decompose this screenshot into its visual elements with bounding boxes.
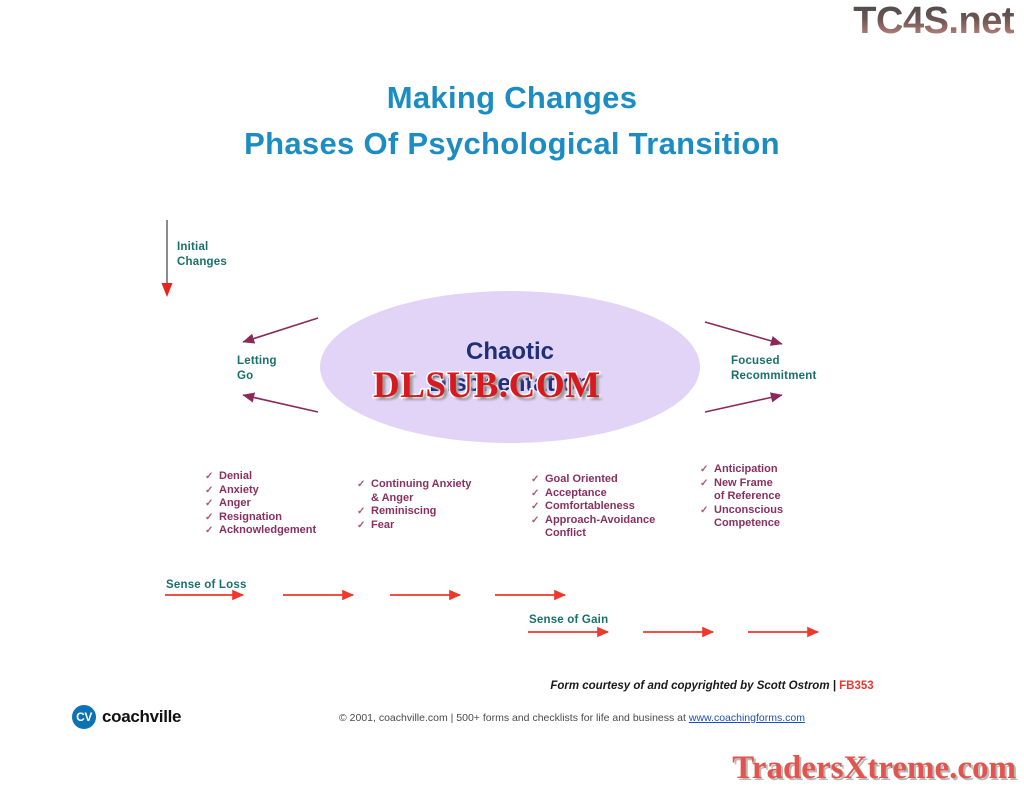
check-icon: ✓ xyxy=(357,478,371,492)
diagram-page: TC4S.net Making Changes Phases Of Psycho… xyxy=(0,0,1024,791)
bullet-item: ✓Reminiscing xyxy=(357,505,471,519)
check-icon: ✓ xyxy=(700,504,714,518)
bullet-item: ✓Goal Oriented xyxy=(531,473,655,487)
bullet-item: ✓Approach-Avoidance Conflict xyxy=(531,514,655,541)
label-sense-of-gain: Sense of Gain xyxy=(529,613,608,628)
check-icon: ✓ xyxy=(357,505,371,519)
bullet-label: Comfortableness xyxy=(545,500,635,514)
check-icon: ✓ xyxy=(205,524,219,538)
bullet-label: Resignation xyxy=(219,511,282,525)
bullet-label: Denial xyxy=(219,470,252,484)
check-icon: ✓ xyxy=(205,470,219,484)
label-initial-changes: Initial Changes xyxy=(177,240,227,270)
watermark-dlsub: DLSUB.COM xyxy=(373,367,601,404)
check-icon: ✓ xyxy=(357,519,371,533)
check-icon: ✓ xyxy=(531,473,545,487)
bullet-column-recommitment: ✓Anticipation✓New Frame of Reference✓Unc… xyxy=(700,463,783,531)
bullet-item: ✓Acknowledgement xyxy=(205,524,316,538)
bullet-item: ✓Fear xyxy=(357,519,471,533)
label-focused-recommitment: Focused Recommitment xyxy=(731,354,816,384)
check-icon: ✓ xyxy=(700,463,714,477)
bullet-label: Continuing Anxiety & Anger xyxy=(371,478,471,505)
cv-badge-icon: CV xyxy=(72,705,96,729)
check-icon: ✓ xyxy=(531,487,545,501)
bullet-label: Unconscious Competence xyxy=(714,504,783,531)
label-letting-go: Letting Go xyxy=(237,354,277,384)
bullet-label: Approach-Avoidance Conflict xyxy=(545,514,655,541)
bullet-label: New Frame of Reference xyxy=(714,477,781,504)
check-icon: ✓ xyxy=(205,497,219,511)
coachville-logo: CV coachville xyxy=(72,705,181,729)
check-icon: ✓ xyxy=(531,514,545,528)
bullet-item: ✓Acceptance xyxy=(531,487,655,501)
bullet-label: Acceptance xyxy=(545,487,607,501)
bullet-item: ✓Comfortableness xyxy=(531,500,655,514)
bullet-item: ✓New Frame of Reference xyxy=(700,477,783,504)
bullet-item: ✓Unconscious Competence xyxy=(700,504,783,531)
bullet-label: Anger xyxy=(219,497,251,511)
bullet-label: Acknowledgement xyxy=(219,524,316,538)
bullet-item: ✓Continuing Anxiety & Anger xyxy=(357,478,471,505)
check-icon: ✓ xyxy=(205,511,219,525)
label-sense-of-loss: Sense of Loss xyxy=(166,578,247,593)
check-icon: ✓ xyxy=(700,477,714,491)
bullet-label: Fear xyxy=(371,519,394,533)
bullet-item: ✓Anxiety xyxy=(205,484,316,498)
bullet-label: Anticipation xyxy=(714,463,778,477)
initial-changes-arrow xyxy=(162,220,173,297)
bullet-label: Anxiety xyxy=(219,484,259,498)
bullet-column-transition: ✓Goal Oriented✓Acceptance✓Comfortablenes… xyxy=(531,473,655,541)
bullet-column-chaotic: ✓Continuing Anxiety & Anger✓Reminiscing✓… xyxy=(357,478,471,532)
bullet-label: Goal Oriented xyxy=(545,473,618,487)
check-icon: ✓ xyxy=(531,500,545,514)
bullet-item: ✓Denial xyxy=(205,470,316,484)
coachville-wordmark: coachville xyxy=(102,707,181,727)
bullet-label: Reminiscing xyxy=(371,505,436,519)
check-icon: ✓ xyxy=(205,484,219,498)
bullet-item: ✓Resignation xyxy=(205,511,316,525)
bullet-item: ✓Anger xyxy=(205,497,316,511)
bullet-column-letting-go: ✓Denial✓Anxiety✓Anger✓Resignation✓Acknow… xyxy=(205,470,316,538)
bullet-item: ✓Anticipation xyxy=(700,463,783,477)
